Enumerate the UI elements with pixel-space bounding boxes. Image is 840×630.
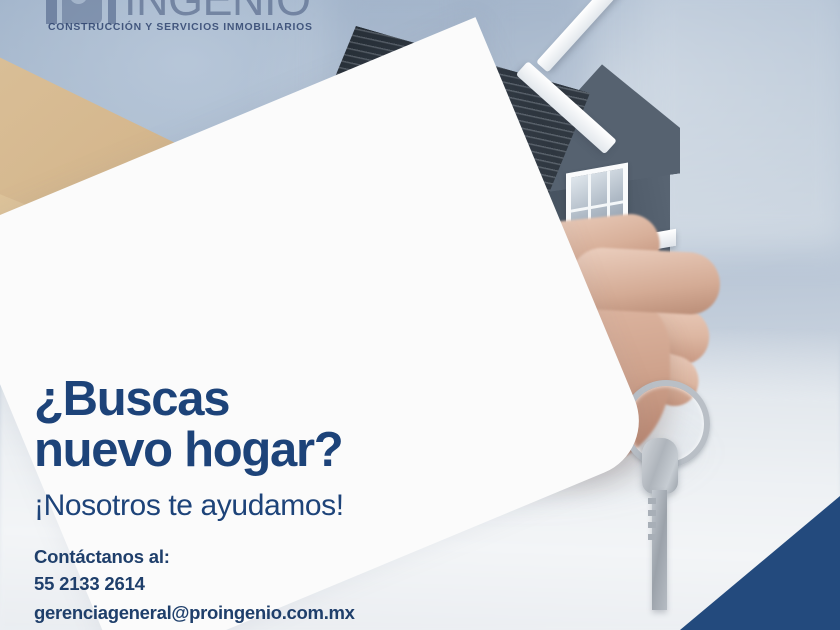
contact-email[interactable]: gerenciageneral@proingenio.com.mx	[34, 598, 474, 627]
brand-tagline: CONSTRUCCIÓN Y SERVICIOS INMOBILIARIOS	[48, 22, 313, 33]
advertisement-banner: INGENIO CONSTRUCCIÓN Y SERVICIOS INMOBIL…	[0, 0, 840, 630]
headline: ¿Buscas nuevo hogar?	[34, 374, 474, 476]
logo-tick-shape	[108, 0, 116, 24]
copy-block: ¿Buscas nuevo hogar? ¡Nosotros te ayudam…	[34, 374, 474, 627]
key-teeth	[648, 498, 656, 544]
subheadline: ¡Nosotros te ayudamos!	[34, 489, 474, 523]
logo-block-shape	[62, 0, 102, 24]
logo-mark-row: INGENIO	[46, 0, 308, 24]
brand-wordmark: INGENIO	[124, 0, 311, 24]
key-head	[642, 438, 678, 494]
contact-phone[interactable]: 55 2133 2614	[34, 570, 474, 598]
contact-block: Contáctanos al: 55 2133 2614 gerenciagen…	[34, 543, 474, 627]
brand-logo[interactable]: INGENIO CONSTRUCCIÓN Y SERVICIOS INMOBIL…	[46, 0, 308, 50]
proingenio-logo-mark-icon	[46, 0, 118, 24]
contact-label: Contáctanos al:	[34, 543, 474, 570]
logo-bar-shape	[46, 0, 57, 24]
